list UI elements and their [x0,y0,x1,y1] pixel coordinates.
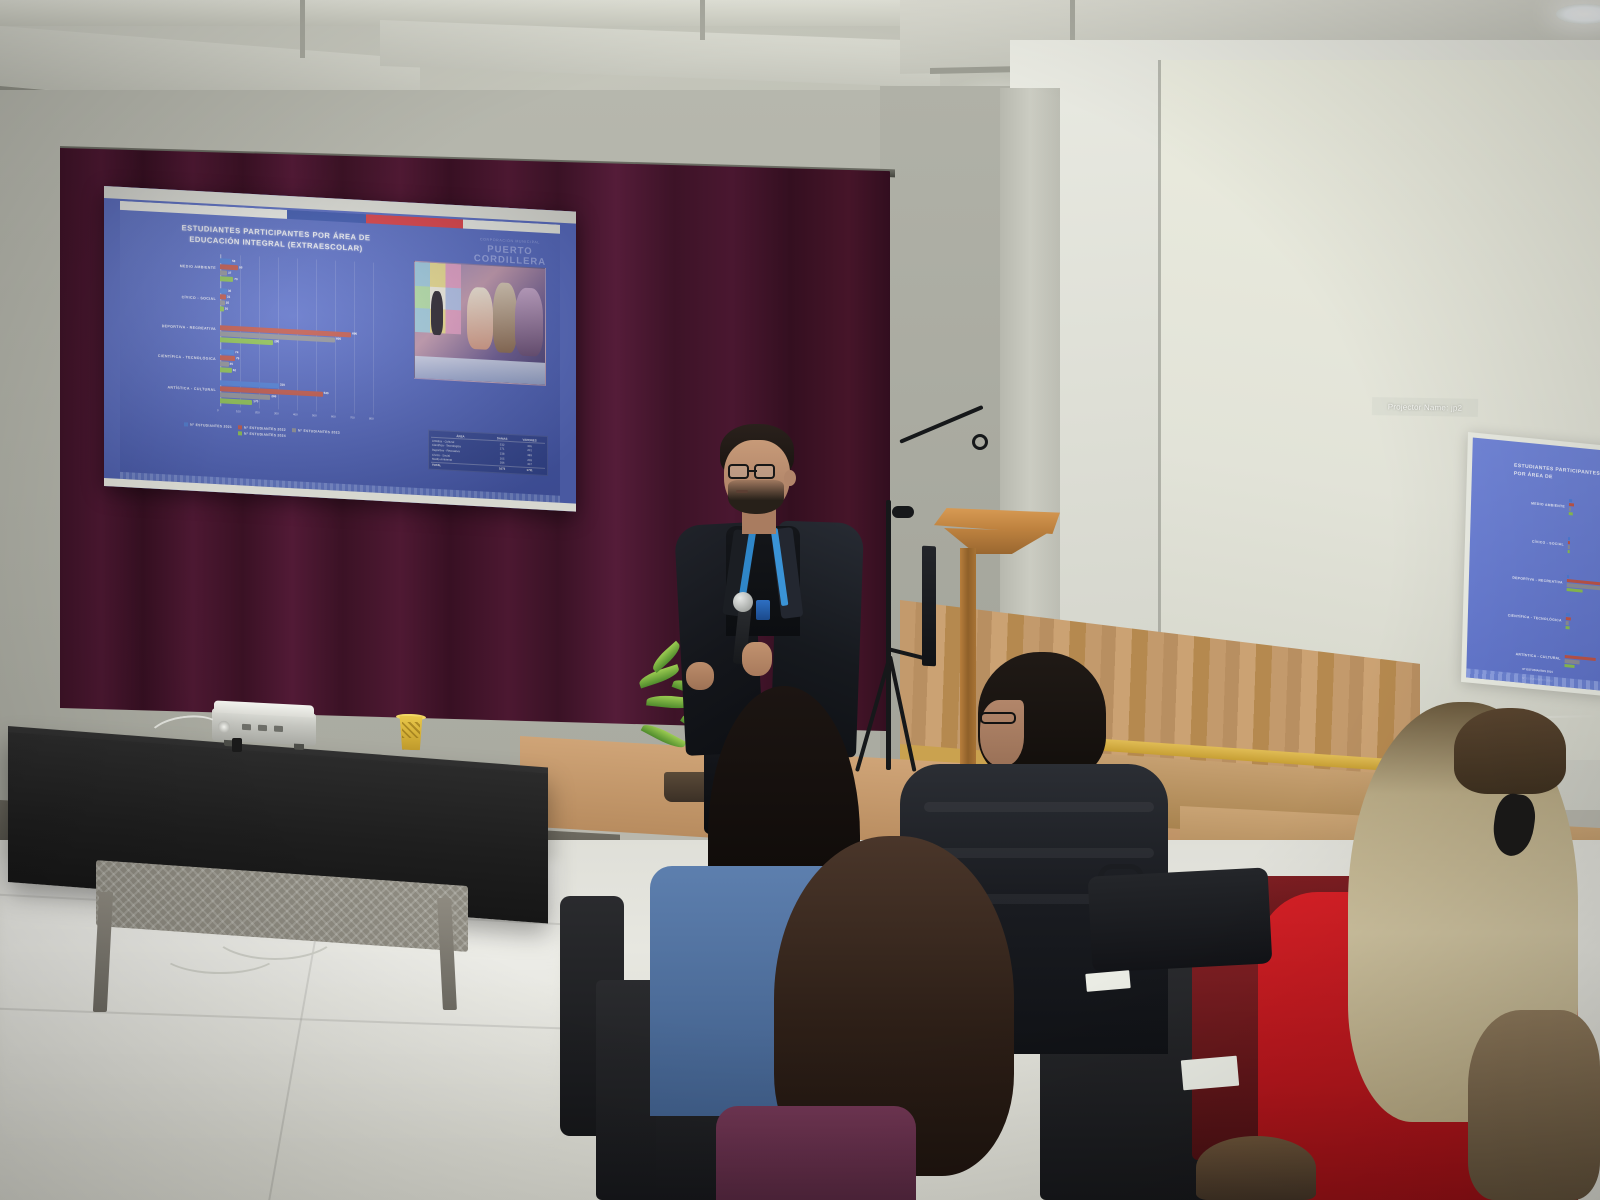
projection-screen[interactable]: ESTUDIANTES PARTICIPANTES POR ÁREA DE ED… [104,186,576,512]
chart-bar-value: 310 [280,383,285,387]
slide-data-table: ÁREADAMASVARONES Artística - Cultural532… [428,430,548,476]
secondary-chart-bar [1568,550,1570,553]
secondary-category-label: DEPORTIVA - RECREATIVA [1467,571,1563,584]
paper-sheet[interactable] [1085,970,1130,992]
slide-photo-collage [414,261,546,386]
secondary-projection-surface: ESTUDIANTES PARTICIPANTES POR ÁREA DE ME… [1466,437,1600,691]
secondary-chart-bar [1568,541,1570,544]
chart-legend-item: N° ESTUDIANTES 2021 [184,422,232,429]
table-body: Artística - Cultural532305Científica - T… [431,438,545,474]
photo-figure-3 [493,282,517,353]
speaker-column [922,546,936,667]
projector-port [274,726,283,732]
presentation-slide: ESTUDIANTES PARTICIPANTES POR ÁREA DE ED… [120,201,560,503]
chart-legend-label: N° ESTUDIANTES 2021 [190,423,232,429]
chart-legend-swatch [292,428,296,432]
mic-stand-clamp [892,506,914,518]
chart-bar: 74 [220,349,234,355]
eyeglasses-icon [980,712,1016,724]
projector-name-label: Projector Name: jp2 [1372,397,1478,417]
secondary-category-label: ARTÍSTICA - CULTURAL [1466,647,1561,660]
chart-bar: 36 [220,289,227,294]
chart-bar-value: 45 [230,362,233,366]
chart-bar-value: 70 [234,277,237,281]
slide-title: ESTUDIANTES PARTICIPANTES POR ÁREA DE ED… [146,220,406,256]
chart-bar-value: 690 [352,332,357,336]
audience-top [716,1106,916,1200]
chart-bar: 170 [220,398,252,405]
audience-face [980,700,1024,766]
secondary-chart-bar [1569,503,1575,507]
chart-bar: 37 [220,270,227,275]
photo-stage-floor [415,356,546,385]
chart-legend-swatch [184,422,188,426]
presenter-ear [784,470,796,486]
chart-bar-value: 79 [236,356,239,360]
audience-hair-top [1454,708,1566,794]
eyeglasses-icon [728,464,749,479]
chart-bar: 95 [220,264,238,270]
chart-bar: 25 [220,301,225,306]
chart-bar-value: 58 [232,259,235,263]
secondary-slide-title: ESTUDIANTES PARTICIPANTES POR ÁREA DE [1514,462,1600,487]
secondary-category-label: CIENTÍFICA - TECNOLÓGICA [1466,609,1562,622]
chart-category-label: CÍVICO - SOCIAL [142,293,216,301]
chart-x-tick-label: 200 [255,410,260,414]
chart-x-tick-label: 0 [217,408,219,412]
microphone-clip [972,434,988,450]
eyeglasses-icon [754,464,775,479]
chart-bar-value: 280 [274,340,279,344]
projector-port [242,724,251,730]
photo-figure-4 [515,287,543,357]
secondary-chart-bar [1566,626,1570,630]
chart-x-tick-label: 700 [350,415,355,419]
chart-bar-value: 605 [336,337,341,341]
projector-device[interactable] [212,700,316,749]
secondary-chart-bar [1566,617,1571,621]
chart-bar-value: 74 [235,350,238,354]
chart-bar-value: 31 [227,295,230,299]
chart-category-label: ARTÍSTICA - CULTURAL [142,384,216,392]
chart-bar: 62 [220,367,232,373]
secondary-chart-bar [1567,575,1569,578]
secondary-chart-bar [1569,512,1573,516]
chart-legend-item: N° ESTUDIANTES 2024 [238,431,286,438]
secondary-legend-label: N° ESTUDIANTES 2021 [1522,667,1553,674]
chart-category-label: MEDIO AMBIENTE [142,262,216,270]
photo-figure-2 [467,287,493,350]
eyeglasses-bridge [749,470,757,472]
secondary-title-line1: ESTUDIANTES PARTICIPANTES POR ÁREA DE [1514,463,1600,481]
chart-bar-value: 37 [228,270,231,274]
chart-legend-swatch [238,431,242,435]
secondary-chart-bar [1569,499,1572,503]
chart-bar: 45 [220,361,229,366]
paper-cup-pattern [402,722,420,738]
presenter-id-badge [756,600,770,620]
chart-x-tick-label: 400 [293,412,298,416]
chart-legend-label: N° ESTUDIANTES 2023 [298,429,340,435]
chart-legend-label: N° ESTUDIANTES 2024 [244,432,286,438]
chart-gridline [373,263,374,415]
secondary-category-label: CÍVICO - SOCIAL [1468,533,1564,546]
chart-x-tick-label: 500 [312,413,317,417]
audience-member[interactable] [1196,1136,1316,1200]
chart-legend-item: N° ESTUDIANTES 2023 [292,428,340,435]
puffer-seam [924,802,1154,812]
presenter-beard [728,480,784,514]
table-cell: 1673 [490,465,514,471]
chart-bar-value: 36 [228,289,231,293]
conference-room-scene: ESTUDIANTES PARTICIPANTES POR ÁREA DE ED… [0,0,1600,1200]
chart-x-tick-label: 100 [236,409,241,413]
secondary-chart-bar [1568,537,1570,540]
ceiling-seam-b [700,0,705,40]
audience-hair [1468,1010,1600,1200]
chart-bar: 20 [220,307,224,312]
chart-legend-swatch [238,425,242,429]
bar-chart: MEDIO AMBIENTE58953770CÍVICO - SOCIAL363… [142,250,372,430]
presenter-right-hand [742,642,772,676]
chart-legend-label: N° ESTUDIANTES 2022 [244,426,286,432]
chart-x-tick-label: 600 [331,414,336,418]
chart-bar: 79 [220,355,235,361]
chart-bar-value: 25 [226,301,229,305]
chart-category-label: DEPORTIVA - RECREATIVA [142,323,216,331]
chart-x-tick-label: 300 [274,411,279,415]
chart-category-label: CIENTÍFICA - TECNOLÓGICA [142,353,216,361]
audience-member[interactable] [1468,1010,1600,1200]
chart-bar: 58 [220,258,231,264]
chart-bar-value: 20 [225,307,228,311]
presenter-mouth [736,490,748,493]
projector-plug [232,738,242,752]
screen-surface: ESTUDIANTES PARTICIPANTES POR ÁREA DE ED… [104,186,576,512]
secondary-chart-bar [1569,507,1571,510]
ceiling-slab-center [380,20,940,88]
chart-x-tick-label: 800 [369,416,374,420]
secondary-chart-bar [1566,621,1569,624]
black-backpack[interactable] [1088,867,1273,972]
chart-bar-value: 265 [271,394,276,398]
secondary-chart-bar [1566,613,1570,617]
audience-hair [1196,1136,1316,1200]
projector-port [258,725,267,731]
chart-bar: 70 [220,276,233,282]
floor-cable [160,930,280,974]
secondary-category-label: MEDIO AMBIENTE [1469,495,1565,508]
chart-bar-value: 62 [233,368,236,372]
chart-bar-value: 95 [239,265,242,269]
secondary-chart-bar [1564,664,1574,668]
secondary-chart-bar [1568,545,1570,548]
paper-sheet[interactable] [1181,1056,1239,1091]
table-cell: 1711 [514,467,545,474]
flag-segment-blue [287,210,366,223]
chart-bar: 31 [220,295,226,300]
secondary-chart-bar [1567,588,1583,593]
chart-bar-value: 170 [253,399,258,403]
audience-member[interactable] [716,836,1056,1200]
secondary-projection[interactable]: ESTUDIANTES PARTICIPANTES POR ÁREA DE ME… [1461,432,1600,697]
projector-foot [294,744,304,751]
ceiling-seam-a [300,0,305,58]
microphone-head [733,592,753,612]
photo-figure-1 [431,291,443,336]
chart-bar-value: 540 [324,391,329,395]
